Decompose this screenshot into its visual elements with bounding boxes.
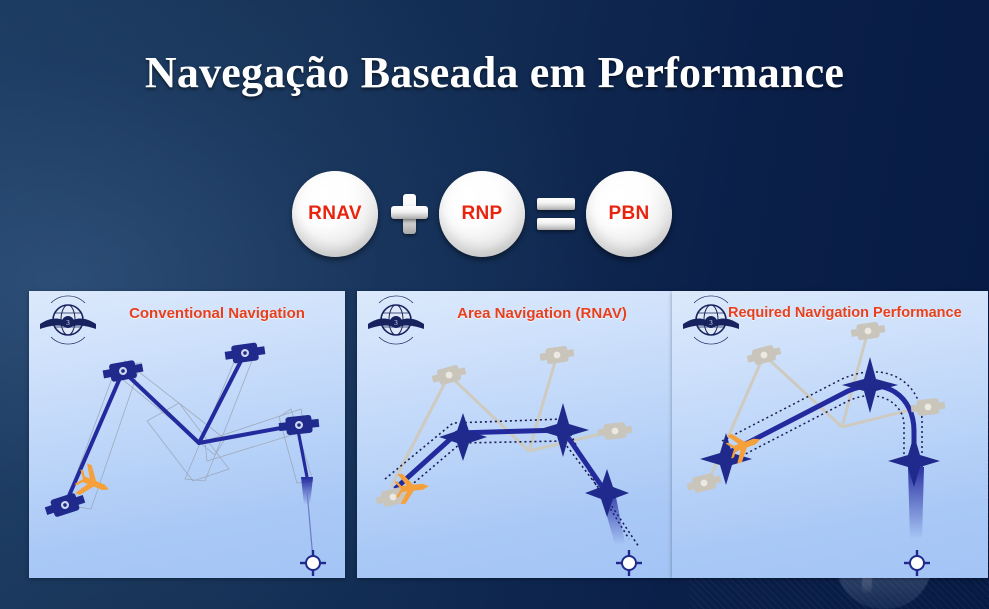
airport-symbol-icon: [616, 550, 642, 576]
panel-title-conventional: Conventional Navigation: [95, 305, 339, 322]
equals-bar-bottom: [537, 218, 575, 230]
panel-title-rnp: Required Navigation Performance: [728, 305, 982, 321]
rnav-label: RNAV: [308, 203, 362, 225]
panel-area-navigation: 3 Area Navigation (RNAV): [357, 291, 673, 578]
panel-conventional-navigation: 3 Conventional Navigation: [29, 291, 345, 578]
equals-bar-top: [537, 198, 575, 210]
svg-text:3: 3: [394, 319, 398, 327]
icao-logo-icon: 3: [367, 294, 425, 350]
rnav-circle: RNAV: [292, 171, 378, 257]
pbn-label: PBN: [608, 203, 649, 225]
panel-required-navigation-performance: 3 Required Navigation Performance: [672, 291, 988, 578]
airport-symbol-icon: [904, 550, 930, 576]
icao-logo-icon: 3: [682, 294, 740, 350]
panel-title-rnav: Area Navigation (RNAV): [417, 305, 667, 322]
slide-canvas: Navegação Baseada em Performance RNAV RN…: [0, 0, 989, 609]
equals-operator-icon: [536, 192, 576, 236]
plus-operator-icon: [389, 192, 429, 236]
navaid-symbol: [43, 341, 320, 519]
icao-logo-icon: 3: [39, 294, 97, 350]
rnav-waypoint-icon: [439, 403, 629, 517]
page-title: Navegação Baseada em Performance: [0, 47, 989, 98]
rnp-label: RNP: [461, 203, 502, 225]
svg-text:3: 3: [709, 319, 713, 327]
pbn-equation: RNAV RNP PBN: [292, 171, 672, 257]
svg-text:3: 3: [66, 319, 70, 327]
airport-symbol-icon: [300, 550, 326, 576]
rnp-circle: RNP: [439, 171, 525, 257]
pbn-circle: PBN: [586, 171, 672, 257]
